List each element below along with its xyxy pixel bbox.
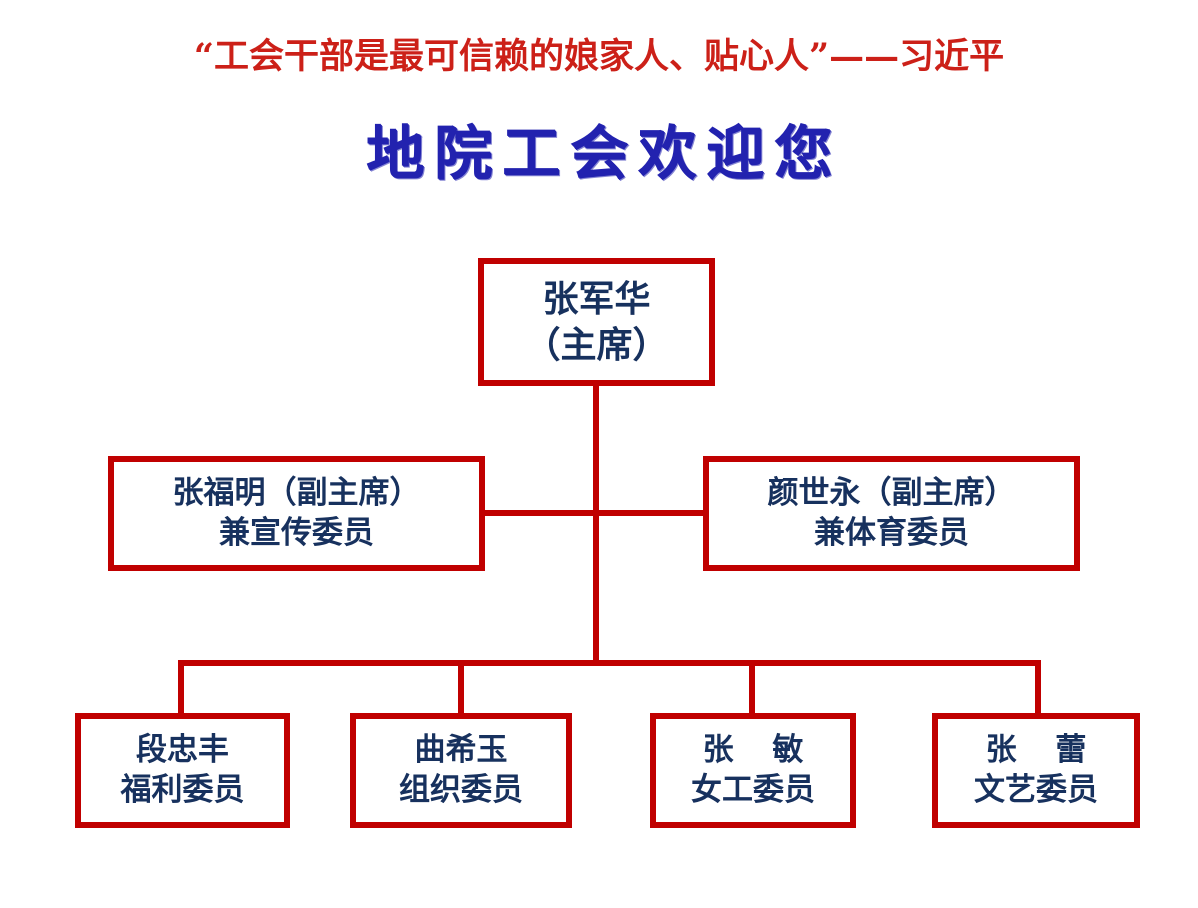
connector-to-vice-right <box>593 510 705 516</box>
org-node-member-organization-name: 曲希玉 <box>415 731 508 771</box>
connector-drop-member-2 <box>458 660 464 716</box>
connector-to-vice-left <box>485 510 595 516</box>
org-node-member-welfare-role: 福利委员 <box>121 771 245 811</box>
org-node-vice-right-role: 兼体育委员 <box>814 514 969 554</box>
org-node-vice-right-name: 颜世永（副主席） <box>768 474 1016 514</box>
connector-trunk-vertical <box>593 386 599 660</box>
org-node-chair-name: 张军华 <box>542 276 650 322</box>
page-title: 地院工会欢迎您 <box>0 106 1198 190</box>
org-node-vice-left[interactable]: 张福明（副主席） 兼宣传委员 <box>108 456 485 571</box>
org-node-vice-left-role: 兼宣传委员 <box>219 514 374 554</box>
org-node-member-women[interactable]: 张 敏 女工委员 <box>650 713 856 828</box>
org-node-member-organization[interactable]: 曲希玉 组织委员 <box>350 713 572 828</box>
org-node-member-arts[interactable]: 张 蕾 文艺委员 <box>932 713 1140 828</box>
org-node-member-organization-role: 组织委员 <box>399 771 523 811</box>
org-node-chair-role: （主席） <box>524 322 668 368</box>
header-quote: “工会干部是最可信赖的娘家人、贴心人”——习近平 <box>0 28 1198 79</box>
org-node-member-welfare[interactable]: 段忠丰 福利委员 <box>75 713 290 828</box>
org-node-chair[interactable]: 张军华 （主席） <box>478 258 715 386</box>
org-node-vice-left-name: 张福明（副主席） <box>173 474 421 514</box>
org-node-member-women-name: 张 敏 <box>689 731 818 771</box>
connector-member-bus <box>178 660 1041 666</box>
connector-drop-member-3 <box>749 660 755 716</box>
org-node-member-welfare-name: 段忠丰 <box>136 731 229 771</box>
connector-drop-member-4 <box>1035 660 1041 716</box>
org-node-member-arts-role: 文艺委员 <box>974 771 1098 811</box>
connector-drop-member-1 <box>178 660 184 716</box>
org-node-vice-right[interactable]: 颜世永（副主席） 兼体育委员 <box>703 456 1080 571</box>
org-node-member-arts-name: 张 蕾 <box>972 731 1101 771</box>
org-chart-slide: “工会干部是最可信赖的娘家人、贴心人”——习近平 地院工会欢迎您 张军华 （主席… <box>0 0 1198 908</box>
org-node-member-women-role: 女工委员 <box>691 771 815 811</box>
